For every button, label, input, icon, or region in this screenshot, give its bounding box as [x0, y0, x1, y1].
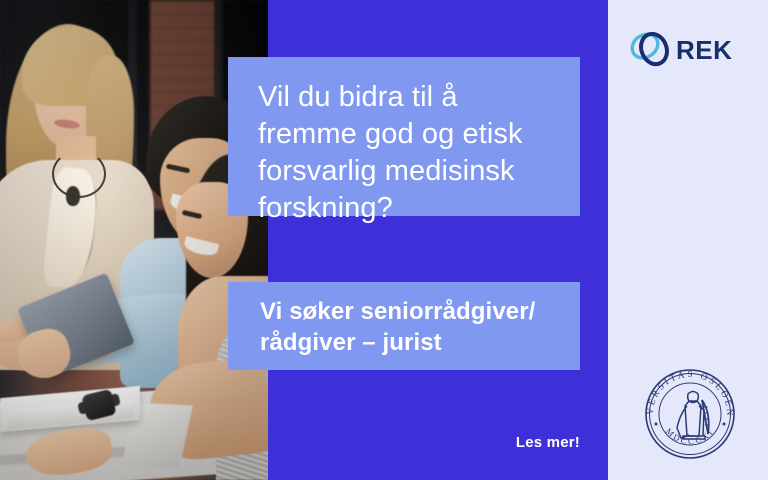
rek-wordmark: REK [676, 35, 732, 66]
recruitment-banner: Vil du bidra til å fremme god og etisk f… [0, 0, 768, 480]
job-title-text: Vi søker seniorrådgiver/ rådgiver – juri… [260, 296, 560, 358]
job-title-box: Vi søker seniorrådgiver/ rådgiver – juri… [228, 282, 580, 370]
headline-text: Vil du bidra til å fremme god og etisk f… [258, 79, 556, 227]
interlocking-rings-icon [628, 25, 674, 76]
logo-sidebar: REK UNIVERSITAS OSLOENSIS MDCCCXI [608, 0, 768, 480]
rek-logo[interactable]: REK [628, 22, 752, 78]
read-more-button[interactable]: Les mer! [460, 430, 580, 455]
headline-box: Vil du bidra til å fremme god og etisk f… [228, 57, 580, 216]
university-of-oslo-seal-icon: UNIVERSITAS OSLOENSIS MDCCCXI [636, 360, 744, 468]
